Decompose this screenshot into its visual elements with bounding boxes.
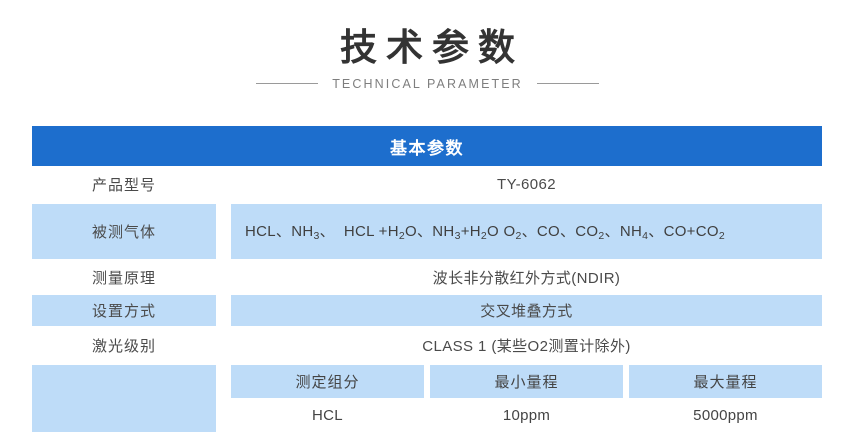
page-subtitle-row: TECHNICAL PARAMETER [0,77,855,91]
range-value-max: 5000ppm [629,398,822,432]
table-row: 被测气体 HCL、NH3、 HCL +H2O、NH3+H2O O2、CO、CO2… [32,204,822,259]
range-subtable-data-row: HCL 10ppm 5000ppm [231,398,822,432]
range-header-min: 最小量程 [430,365,623,398]
page-header: 技术参数 TECHNICAL PARAMETER [0,0,855,91]
row-label: 测量原理 [32,260,216,294]
range-subtable-body: 测定组分 最小量程 最大量程 HCL 10ppm 5000ppm [231,365,822,432]
subtitle-rule-right [537,83,599,84]
table-row: 设置方式 交叉堆叠方式 [32,295,822,326]
gas-list: HCL、NH3、 HCL +H2O、NH3+H2O O2、CO、CO2、NH4、… [231,221,822,242]
range-subtable-spacer [32,365,216,432]
page-title: 技术参数 [0,26,855,70]
row-label: 产品型号 [32,166,216,203]
range-header-component: 测定组分 [231,365,424,398]
row-label: 被测气体 [32,204,216,259]
row-value: TY-6062 [231,166,822,203]
range-subtable-header-row: 测定组分 最小量程 最大量程 [231,365,822,398]
row-value: 波长非分散红外方式(NDIR) [231,260,822,294]
page-subtitle: TECHNICAL PARAMETER [332,77,523,91]
table-row: 产品型号 TY-6062 [32,166,822,203]
range-value-min: 10ppm [430,398,623,432]
range-header-max: 最大量程 [629,365,822,398]
table-row: 激光级别 CLASS 1 (某些O2测置计除外) [32,327,822,363]
table-row: 测量原理 波长非分散红外方式(NDIR) [32,260,822,294]
row-label: 激光级别 [32,327,216,363]
row-value: HCL、NH3、 HCL +H2O、NH3+H2O O2、CO、CO2、NH4、… [231,204,822,259]
specs-table-band-title: 基本参数 [32,126,822,166]
specs-table: 基本参数 产品型号 TY-6062 被测气体 HCL、NH3、 HCL +H2O… [32,126,822,432]
range-value-component: HCL [231,398,424,432]
row-label: 设置方式 [32,295,216,326]
subtitle-rule-left [256,83,318,84]
row-value: CLASS 1 (某些O2测置计除外) [231,327,822,363]
range-subtable: 测定组分 最小量程 最大量程 HCL 10ppm 5000ppm [32,365,822,432]
row-value: 交叉堆叠方式 [231,295,822,326]
